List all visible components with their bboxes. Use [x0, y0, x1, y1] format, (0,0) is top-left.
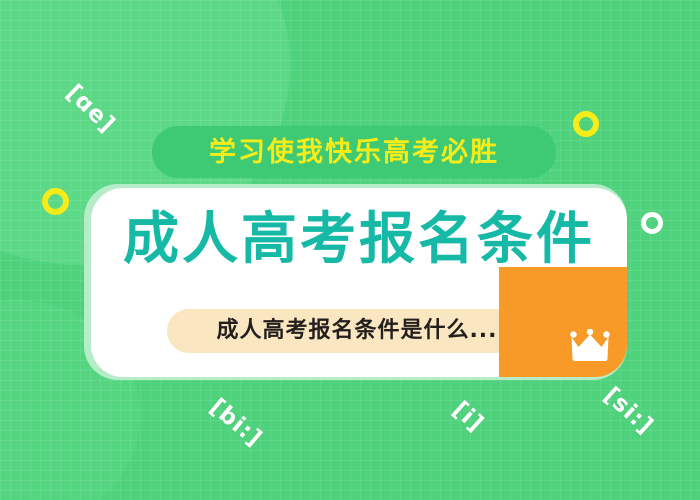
top-banner-text: 学习使我快乐高考必胜 [209, 139, 499, 166]
main-card: 成人高考报名条件 成人高考报名条件是什么... [91, 188, 627, 377]
top-banner: 学习使我快乐高考必胜 [152, 126, 556, 178]
yellow-ring-left-icon [42, 188, 69, 215]
card-corner-accent [499, 267, 627, 377]
page-title: 成人高考报名条件 [91, 212, 627, 268]
subtitle-text: 成人高考报名条件是什么... [216, 320, 497, 342]
subtitle-pill: 成人高考报名条件是什么... [167, 309, 547, 353]
white-ring-right-icon [641, 212, 663, 234]
yellow-ring-top-right-icon [573, 111, 599, 137]
poster-canvas: [ɑe] [bi:] [i] [si:] 学习使我快乐高考必胜 成人高考报名条件… [0, 0, 700, 500]
crown-icon [569, 329, 611, 363]
